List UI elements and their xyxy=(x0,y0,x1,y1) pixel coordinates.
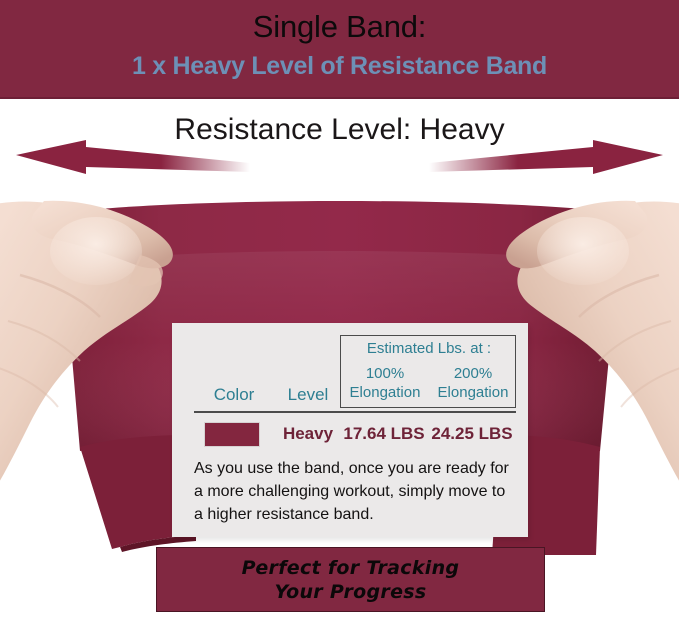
color-swatch xyxy=(204,422,260,447)
column-header-color: Color xyxy=(196,385,272,405)
cell-lbs-100: 17.64 LBS xyxy=(340,424,428,444)
product-infographic: Single Band: 1 x Heavy Level of Resistan… xyxy=(0,0,679,621)
table-row: Heavy 17.64 LBS 24.25 LBS xyxy=(172,416,528,450)
banner-line-2: Your Progress xyxy=(157,580,544,604)
column-header-level: Level xyxy=(276,385,340,405)
elongation-100-percent: 100% xyxy=(341,364,429,383)
cell-lbs-200: 24.25 LBS xyxy=(428,424,516,444)
page-subtitle: 1 x Heavy Level of Resistance Band xyxy=(0,50,679,82)
cell-level: Heavy xyxy=(276,424,340,444)
estimated-lbs-box: Estimated Lbs. at : 100% Elongation 200%… xyxy=(340,335,516,408)
column-header-200-elongation: 200% Elongation xyxy=(429,364,517,402)
page-title: Single Band: xyxy=(0,8,679,46)
estimated-lbs-title: Estimated Lbs. at : xyxy=(341,340,517,357)
column-header-100-elongation: 100% Elongation xyxy=(341,364,429,402)
card-note: As you use the band, once you are ready … xyxy=(194,457,512,526)
banner-line-1: Perfect for Tracking xyxy=(157,556,544,580)
table-header-rule xyxy=(194,411,516,413)
elongation-200-percent: 200% xyxy=(429,364,517,383)
bottom-banner: Perfect for Tracking Your Progress xyxy=(156,547,545,612)
elongation-200-label: Elongation xyxy=(429,383,517,402)
elongation-100-label: Elongation xyxy=(341,383,429,402)
specification-card: Estimated Lbs. at : 100% Elongation 200%… xyxy=(172,323,528,537)
header-band: Single Band: 1 x Heavy Level of Resistan… xyxy=(0,0,679,99)
